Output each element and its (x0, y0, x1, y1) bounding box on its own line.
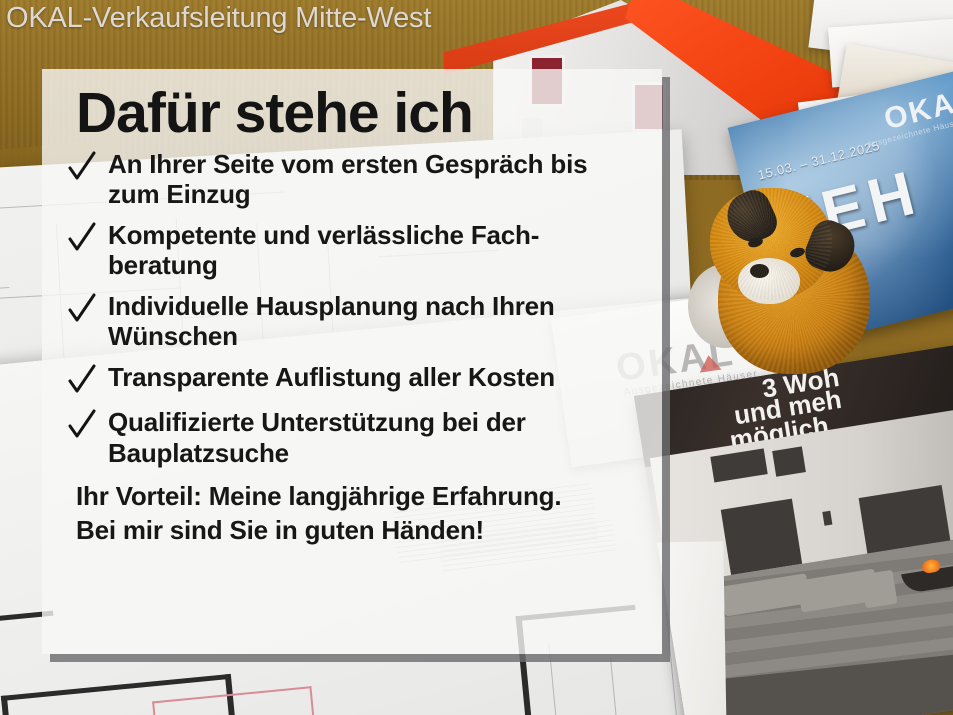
check-icon (68, 364, 96, 398)
content-panel: Dafür stehe ich An Ihrer Seite vom erste… (42, 69, 662, 654)
fox-head (710, 188, 832, 300)
list-item-label: Kompetente und verlässliche Fach-beratun… (108, 220, 640, 280)
closing-line-1: Ihr Vorteil: Meine langjährige Erfahrung… (76, 479, 640, 513)
terrace-chair (861, 570, 898, 609)
facade-window (710, 448, 767, 482)
check-icon (68, 293, 96, 327)
list-item: Qualifizierte Unterstützung bei der Baup… (68, 407, 640, 467)
check-icon (68, 409, 96, 443)
list-item-label: An Ihrer Seite vom ersten Gespräch bis z… (108, 149, 640, 209)
check-icon (68, 222, 96, 256)
check-icon (68, 151, 96, 185)
facade-window (721, 499, 802, 575)
fox-plush-figurine (680, 160, 880, 380)
closing-line-2: Bei mir sind Sie in guten Händen! (76, 513, 640, 547)
facade-window (772, 446, 806, 476)
list-item-label: Individuelle Hausplanung nach Ihren Wüns… (108, 291, 640, 351)
list-item: Individuelle Hausplanung nach Ihren Wüns… (68, 291, 640, 351)
house-photo-brochure: 3 Woh und meh möglich (634, 344, 953, 715)
page-title: OKAL-Verkaufsleitung Mitte-West (6, 2, 431, 35)
list-item: Kompetente und verlässliche Fach-beratun… (68, 220, 640, 280)
list-item: An Ihrer Seite vom ersten Gespräch bis z… (68, 149, 640, 209)
facade-lamp (822, 511, 832, 526)
panel-headline: Dafür stehe ich (76, 83, 640, 145)
list-item-label: Transparente Auflistung aller Kosten (108, 362, 555, 392)
closing-text: Ihr Vorteil: Meine langjährige Erfahrung… (76, 479, 640, 548)
list-item: Transparente Auflistung aller Kosten (68, 362, 640, 396)
fox-fur-texture (710, 188, 832, 300)
benefit-list: An Ihrer Seite vom ersten Gespräch bis z… (64, 149, 640, 468)
poster-canvas: 15.03. – 31.12.2025 MEH OKA Ausgezeichne… (0, 0, 953, 715)
list-item-label: Qualifizierte Unterstützung bei der Baup… (108, 407, 640, 467)
